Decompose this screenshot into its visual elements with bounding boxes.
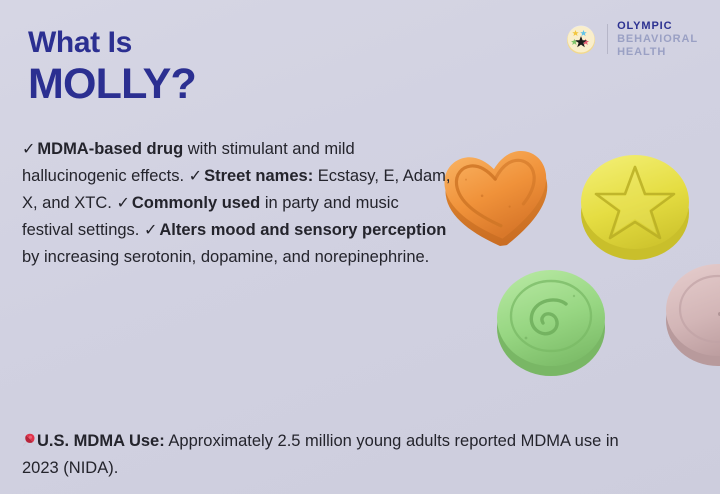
page-title: What Is MOLLY?	[28, 26, 196, 107]
olympic-stars-circle-logo-icon	[564, 22, 598, 56]
brand-logo: OLYMPIC BEHAVIORAL HEALTH	[564, 20, 698, 59]
bullet-list: ✓MDMA-based drug with stimulant and mild…	[22, 136, 452, 270]
brand-name-line-2: BEHAVIORAL	[617, 33, 698, 46]
page-title-line-2: MOLLY?	[28, 62, 196, 108]
brand-name: OLYMPIC BEHAVIORAL HEALTH	[617, 20, 698, 59]
pushpin-icon	[22, 429, 36, 455]
bullet-bold-1: Street names:	[204, 167, 313, 185]
footer-statistic: U.S. MDMA Use: Approximately 2.5 million…	[22, 428, 632, 482]
page-title-line-1: What Is	[28, 26, 196, 60]
check-icon: ✓	[22, 141, 37, 158]
yellow-star-pill	[572, 141, 698, 267]
bullet-bold-0: MDMA-based drug	[37, 140, 183, 158]
green-swirl-pill	[488, 256, 614, 382]
check-icon: ✓	[144, 222, 159, 239]
footer-stat-bold: U.S. MDMA Use:	[37, 432, 165, 450]
molly-infographic: OLYMPIC BEHAVIORAL HEALTH What Is MOLLY?	[0, 0, 720, 494]
logo-divider	[607, 24, 608, 54]
pink-pill	[660, 252, 720, 372]
brand-name-line-1: OLYMPIC	[617, 20, 698, 33]
bullet-bold-2: Commonly used	[132, 194, 260, 212]
check-icon: ✓	[116, 195, 131, 212]
check-icon: ✓	[189, 168, 204, 185]
bullet-rest-3: by increasing serotonin, dopamine, and n…	[22, 248, 429, 266]
brand-name-line-3: HEALTH	[617, 46, 698, 59]
bullet-bold-3: Alters mood and sensory perception	[159, 221, 446, 239]
